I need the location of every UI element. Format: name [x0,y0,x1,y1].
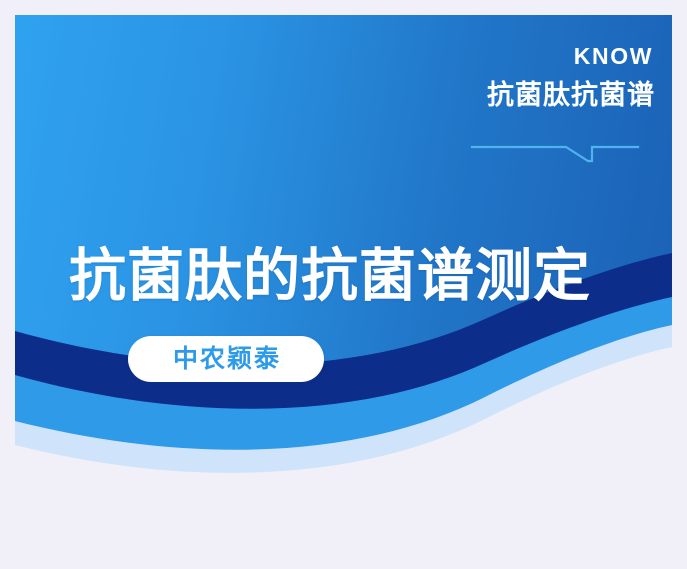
poster-canvas: KNOW 抗菌肽抗菌谱 抗菌肽的抗菌谱测定 中农颖泰 [0,0,687,569]
brand-subtitle: 抗菌肽抗菌谱 [395,82,655,109]
brand-badge: 中农颖泰 [128,336,324,382]
page-title: 抗菌肽的抗菌谱测定 [69,247,591,307]
hero-card: KNOW 抗菌肽抗菌谱 抗菌肽的抗菌谱测定 中农颖泰 [15,15,672,515]
brand-eyebrow: KNOW [395,45,655,68]
header-block: KNOW 抗菌肽抗菌谱 [395,45,655,109]
brand-badge-label: 中农颖泰 [171,347,281,372]
